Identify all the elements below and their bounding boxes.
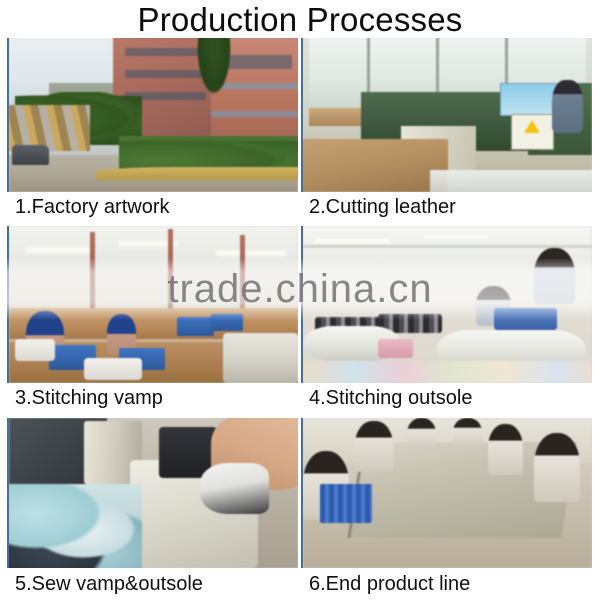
process-step-1[interactable]: 1.Factory artwork (7, 36, 298, 226)
worker-3 (407, 418, 436, 451)
process-step-5[interactable]: 5.Sew vamp&outsole (7, 418, 298, 600)
support-column-2 (168, 229, 173, 317)
ceiling-light-2 (424, 235, 488, 239)
process-step-3[interactable]: 3.Stitching vamp (7, 226, 298, 418)
ceiling-light-3 (217, 251, 286, 255)
worker-5 (488, 424, 523, 475)
process-photo-1 (7, 36, 298, 192)
process-caption-text-6: 6.End product line (309, 574, 470, 594)
support-column-3 (240, 235, 245, 317)
process-caption-1: 1.Factory artwork (7, 192, 298, 222)
worker-2 (355, 421, 393, 472)
facade-stripe-2 (211, 111, 298, 117)
process-photo-5 (7, 418, 298, 568)
material-pile-2 (84, 358, 142, 380)
process-photo-3 (7, 226, 298, 383)
foreground-materials (303, 361, 592, 383)
process-row-1: 1.Factory artwork (0, 36, 600, 226)
worker-6 (534, 433, 580, 502)
process-caption-text-2: 2.Cutting leather (309, 197, 456, 217)
storage-bin-3 (177, 317, 215, 336)
process-grid: 1.Factory artwork (0, 36, 600, 600)
process-caption-text-1: 1.Factory artwork (15, 197, 169, 217)
process-caption-2: 2.Cutting leather (301, 192, 592, 222)
wooden-work-table (301, 139, 448, 192)
parked-car (12, 145, 50, 165)
pink-material (378, 339, 413, 358)
process-step-6[interactable]: 6.End product line (301, 418, 592, 600)
storage-bin-4 (211, 314, 243, 331)
worker-4 (453, 418, 482, 448)
scene-stitching-vamp (9, 226, 298, 383)
scene-cutting-leather (303, 36, 592, 192)
process-caption-text-4: 4.Stitching outsole (309, 388, 472, 408)
process-caption-4: 4.Stitching outsole (301, 383, 592, 413)
process-row-2: 3.Stitching vamp (0, 226, 600, 418)
scene-end-product-line (303, 418, 592, 568)
scene-stitching-outsole (303, 226, 592, 383)
ceiling-light-1 (26, 248, 90, 252)
scene-sew-vamp-outsole (9, 418, 298, 568)
process-step-2[interactable]: 2.Cutting leather (301, 36, 592, 226)
blue-material-stack (494, 308, 558, 330)
blue-poster (500, 83, 560, 116)
cut-vamp-parts-pile (7, 484, 142, 568)
process-caption-text-5: 5.Sew vamp&outsole (15, 574, 203, 594)
scene-factory-exterior (9, 36, 298, 192)
page-title: Production Processes (138, 3, 463, 36)
plastic-sheeting (430, 170, 592, 192)
process-caption-6: 6.End product line (301, 568, 592, 600)
palm-tree (191, 36, 237, 111)
process-caption-text-3: 3.Stitching vamp (15, 388, 163, 408)
worker-right (534, 248, 574, 305)
process-caption-3: 3.Stitching vamp (7, 383, 298, 413)
safety-warning-sign (511, 114, 553, 150)
sewing-machine (223, 333, 298, 383)
production-processes-page: Production Processes (0, 0, 600, 600)
material-pile-1 (15, 339, 55, 361)
process-caption-5: 5.Sew vamp&outsole (7, 568, 298, 600)
process-photo-2 (301, 36, 592, 192)
ceiling (9, 226, 298, 267)
page-title-bar: Production Processes (0, 0, 600, 38)
warning-triangle-icon (524, 120, 540, 133)
process-photo-4 (301, 226, 592, 383)
yellow-curb (96, 167, 298, 179)
ceiling-light-1 (315, 239, 390, 243)
shoe-in-progress (200, 463, 269, 514)
finished-shoes-pile (303, 508, 592, 568)
process-row-3: 5.Sew vamp&outsole (0, 418, 600, 600)
machine-operator (552, 80, 584, 133)
process-step-4[interactable]: 4.Stitching outsole (301, 226, 592, 418)
process-photo-6 (301, 418, 592, 568)
